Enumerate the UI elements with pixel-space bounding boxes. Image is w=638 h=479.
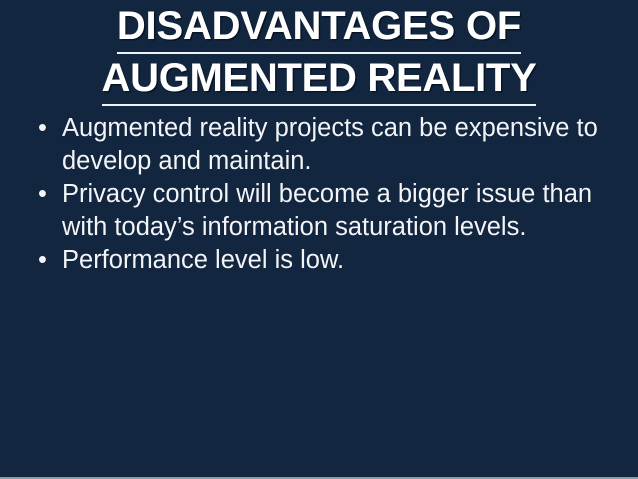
bullet-dot-icon: • xyxy=(30,244,62,277)
bullet-dot-icon: • xyxy=(30,112,62,145)
bullet-text: Privacy control will become a bigger iss… xyxy=(62,178,616,244)
slide-title: DISADVANTAGES OF AUGMENTED REALITY xyxy=(0,2,638,106)
slide-title-line-2: AUGMENTED REALITY xyxy=(0,54,638,106)
bullet-item: • Augmented reality projects can be expe… xyxy=(30,112,616,178)
bullet-dot-icon: • xyxy=(30,178,62,211)
bullet-text: Augmented reality projects can be expens… xyxy=(62,112,616,178)
bullet-item: • Privacy control will become a bigger i… xyxy=(30,178,616,244)
presentation-slide: DISADVANTAGES OF AUGMENTED REALITY • Aug… xyxy=(0,0,638,479)
slide-title-line-1-text: DISADVANTAGES OF xyxy=(117,2,521,54)
bullet-text: Performance level is low. xyxy=(62,244,616,277)
slide-title-line-2-text: AUGMENTED REALITY xyxy=(102,54,537,106)
bullet-item: • Performance level is low. xyxy=(30,244,616,277)
slide-body-bullet-list: • Augmented reality projects can be expe… xyxy=(30,112,616,277)
slide-title-line-1: DISADVANTAGES OF xyxy=(0,2,638,54)
